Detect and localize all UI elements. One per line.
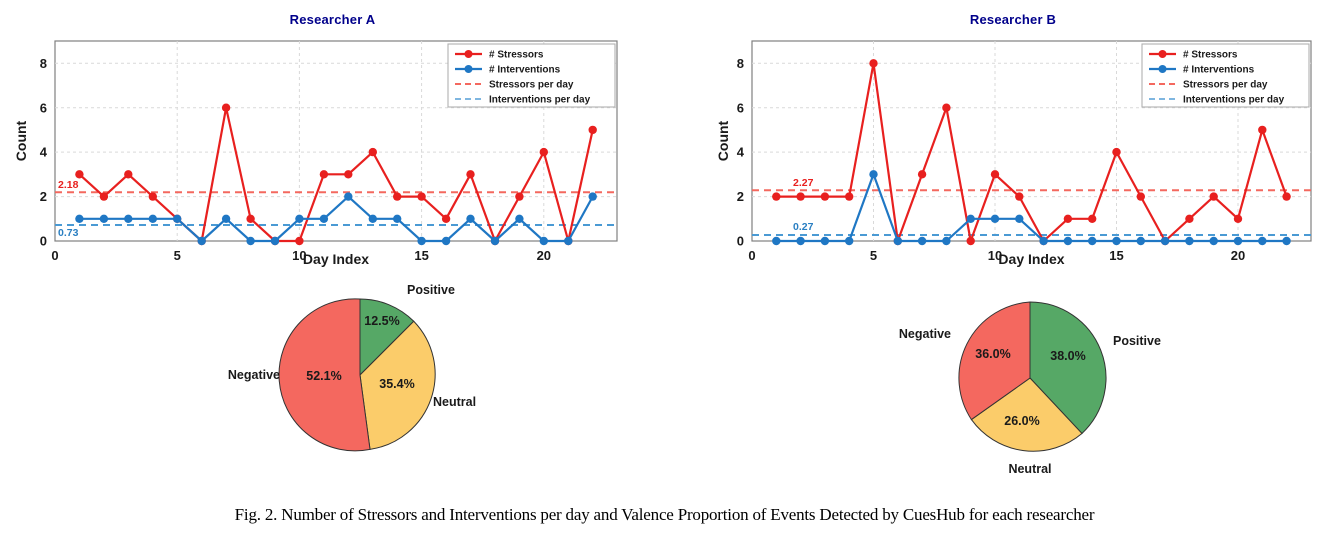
y-tick-6: 6 [40,100,47,115]
researcher-a-pie: 12.5% 35.4% 52.1% Positive Neutral Negat… [175,278,535,478]
interventions-mean-label-a: 0.73 [58,227,79,239]
pie-label-negative-a: Negative [228,368,280,382]
legend-label-stressors: # Stressors [489,50,544,61]
figure-caption: Fig. 2. Number of Stressors and Interven… [0,505,1329,525]
y-tick-0: 0 [737,234,744,249]
x-tick-15: 15 [1109,248,1123,263]
x-tick-10: 10 [988,248,1002,263]
pie-label-neutral-a: Neutral [433,395,476,409]
researcher-a-plot: 0 2 4 6 8 0 5 10 15 20 2.18 0.73 [0,8,665,253]
pie-pct-negative-b: 36.0% [975,347,1010,361]
pie-label-positive-a: Positive [407,283,455,297]
researcher-b-pie: 38.0% 26.0% 36.0% Positive Neutral Negat… [865,278,1225,483]
y-tick-8: 8 [737,56,744,71]
pie-label-negative-b: Negative [899,327,951,341]
researcher-b-line-panel: Researcher B Count Day Index 0 2 4 [697,8,1329,270]
researcher-a-legend[interactable]: # Stressors # Interventions Stressors pe… [448,44,615,107]
y-tick-0: 0 [40,234,47,249]
y-tick-6: 6 [737,100,744,115]
researcher-a-pie-panel: 12.5% 35.4% 52.1% Positive Neutral Negat… [175,278,535,478]
x-tick-5: 5 [174,248,181,263]
x-tick-0: 0 [748,248,755,263]
pie-pct-neutral-b: 26.0% [1004,414,1039,428]
researcher-b-pie-panel: 38.0% 26.0% 36.0% Positive Neutral Negat… [865,278,1225,483]
pie-pct-neutral-a: 35.4% [379,377,414,391]
legend-label-interventions-per-day: Interventions per day [489,95,591,106]
researcher-a-x-axis-label: Day Index [55,251,617,267]
legend-label-interventions-per-day: Interventions per day [1183,95,1285,106]
x-tick-5: 5 [870,248,877,263]
stressors-mean-label-b: 2.27 [793,177,814,189]
pie-pct-positive-a: 12.5% [364,314,399,328]
y-tick-4: 4 [40,145,48,160]
figure-2: Researcher A Count Day Index 0 [0,0,1329,547]
x-tick-10: 10 [292,248,306,263]
stressors-mean-label-a: 2.18 [58,179,79,191]
y-tick-4: 4 [737,145,745,160]
y-tick-2: 2 [737,189,744,204]
pie-pct-positive-b: 38.0% [1050,349,1085,363]
pie-label-neutral-b: Neutral [1008,462,1051,476]
pie-label-positive-b: Positive [1113,334,1161,348]
researcher-b-plot: 0 2 4 6 8 0 5 10 15 20 2.27 0.27 [697,8,1329,253]
x-tick-0: 0 [51,248,58,263]
legend-label-stressors-per-day: Stressors per day [489,80,574,91]
x-tick-15: 15 [414,248,428,263]
interventions-mean-label-b: 0.27 [793,221,814,233]
researcher-b-x-axis-label: Day Index [752,251,1311,267]
researcher-a-line-panel: Researcher A Count Day Index 0 [0,8,665,270]
x-tick-20: 20 [1231,248,1245,263]
pie-pct-negative-a: 52.1% [306,369,341,383]
x-tick-20: 20 [537,248,551,263]
y-tick-8: 8 [40,56,47,71]
y-tick-2: 2 [40,189,47,204]
researcher-b-legend[interactable]: # Stressors # Interventions Stressors pe… [1142,44,1309,107]
legend-label-stressors-per-day: Stressors per day [1183,80,1268,91]
legend-label-interventions: # Interventions [489,65,561,76]
legend-label-interventions: # Interventions [1183,65,1255,76]
legend-label-stressors: # Stressors [1183,50,1238,61]
